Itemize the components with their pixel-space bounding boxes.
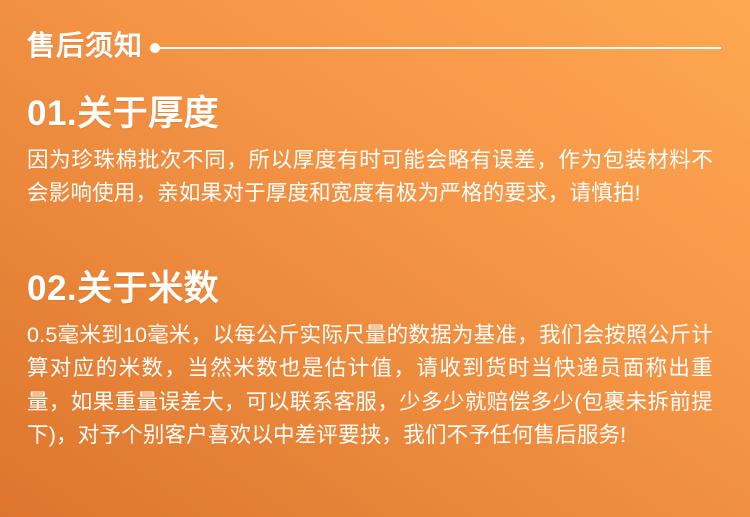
horizontal-rule-icon [160, 47, 721, 49]
bullet-dot-icon [150, 43, 160, 53]
section-body-01: 因为珍珠棉批次不同，所以厚度有时可能会略有误差，作为包装材料不会影响使用，亲如果… [27, 144, 713, 211]
after-sales-notice-poster: 售后须知 01.关于厚度 因为珍珠棉批次不同，所以厚度有时可能会略有误差，作为包… [0, 0, 750, 517]
section-body-02: 0.5毫米到10毫米，以每公斤实际尺量的数据为基准，我们会按照公斤计算对应的米数… [27, 319, 713, 453]
page-title: 售后须知 [27, 32, 143, 60]
section-heading-01: 01.关于厚度 [27, 94, 717, 135]
section-about-thickness: 01.关于厚度 因为珍珠棉批次不同，所以厚度有时可能会略有误差，作为包装材料不会… [27, 94, 717, 211]
section-about-meterage: 02.关于米数 0.5毫米到10毫米，以每公斤实际尺量的数据为基准，我们会按照公… [27, 269, 717, 453]
section-heading-02: 02.关于米数 [27, 269, 717, 310]
poster-header: 售后须知 [27, 25, 735, 67]
